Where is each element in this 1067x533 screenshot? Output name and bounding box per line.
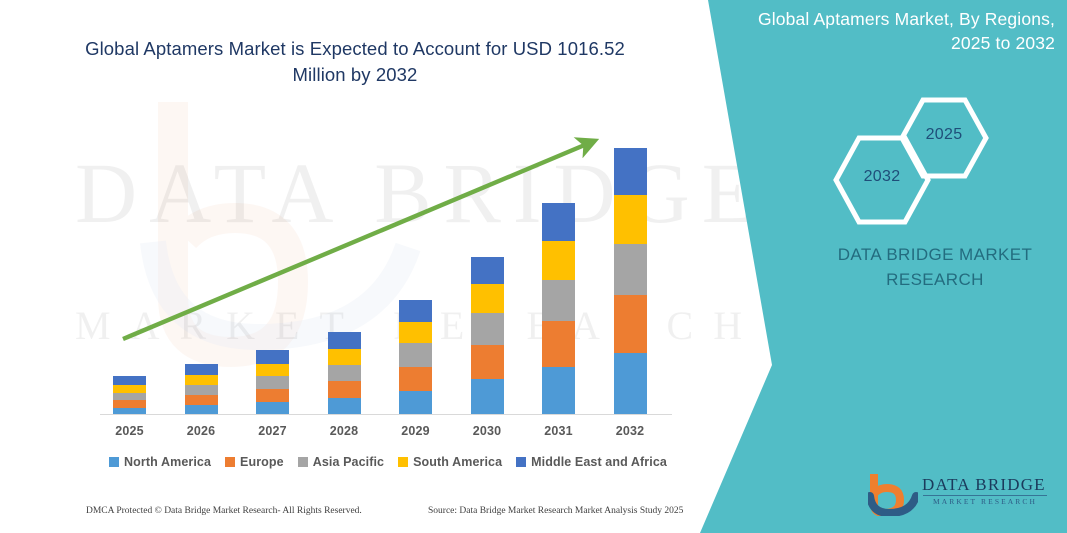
footer-copyright: DMCA Protected © Data Bridge Market Rese… [86,506,362,516]
data-bridge-logo-wordmark: DATA BRIDGE [922,476,1048,493]
x-tick-2026: 2026 [171,424,231,438]
panel-title: Global Aptamers Market, By Regions, 2025… [722,8,1055,55]
x-tick-2031: 2031 [529,424,589,438]
logo-divider [923,495,1047,496]
legend-item-north-america[interactable]: North America [109,455,211,469]
x-tick-2030: 2030 [457,424,517,438]
data-bridge-logo-mark [868,474,918,521]
footer-source: Source: Data Bridge Market Research Mark… [428,506,683,516]
data-bridge-logo-subtext: MARKET RESEARCH [922,498,1048,506]
trend-arrow-icon [100,120,675,415]
page-title: Global Aptamers Market is Expected to Ac… [60,36,650,88]
legend-item-asia-pacific[interactable]: Asia Pacific [298,455,384,469]
footer: DMCA Protected © Data Bridge Market Rese… [0,506,712,526]
panel-brand-text: DATA BRIDGE MARKET RESEARCH [790,243,1067,292]
hexagon-2025-label: 2025 [898,126,990,144]
legend-label: Middle East and Africa [531,455,667,469]
legend-swatch-icon [516,457,526,467]
legend-item-europe[interactable]: Europe [225,455,284,469]
legend-item-middle-east-and-africa[interactable]: Middle East and Africa [516,455,667,469]
legend-swatch-icon [398,457,408,467]
x-axis-labels: 20252026202720282029203020312032 [100,424,675,444]
legend-label: North America [124,455,211,469]
x-tick-2025: 2025 [100,424,160,438]
legend-label: Asia Pacific [313,455,384,469]
legend-swatch-icon [109,457,119,467]
stacked-bar-plot [100,120,675,415]
x-tick-2027: 2027 [243,424,303,438]
hexagon-group: 2032 2025 [820,96,1040,216]
legend-label: South America [413,455,502,469]
x-tick-2028: 2028 [314,424,374,438]
chart-legend: North AmericaEuropeAsia PacificSouth Ame… [98,455,678,469]
legend-swatch-icon [225,457,235,467]
x-tick-2029: 2029 [386,424,446,438]
legend-label: Europe [240,455,284,469]
infographic-canvas: DATA BRIDGE MARKET RESEARCH Global Aptam… [0,0,1067,533]
legend-swatch-icon [298,457,308,467]
data-bridge-logo: DATA BRIDGE MARKET RESEARCH [868,472,1048,518]
chart-area: Global Aptamers Market is Expected to Ac… [0,0,712,533]
legend-item-south-america[interactable]: South America [398,455,502,469]
hexagon-2025: 2025 [898,96,990,180]
x-tick-2032: 2032 [600,424,660,438]
